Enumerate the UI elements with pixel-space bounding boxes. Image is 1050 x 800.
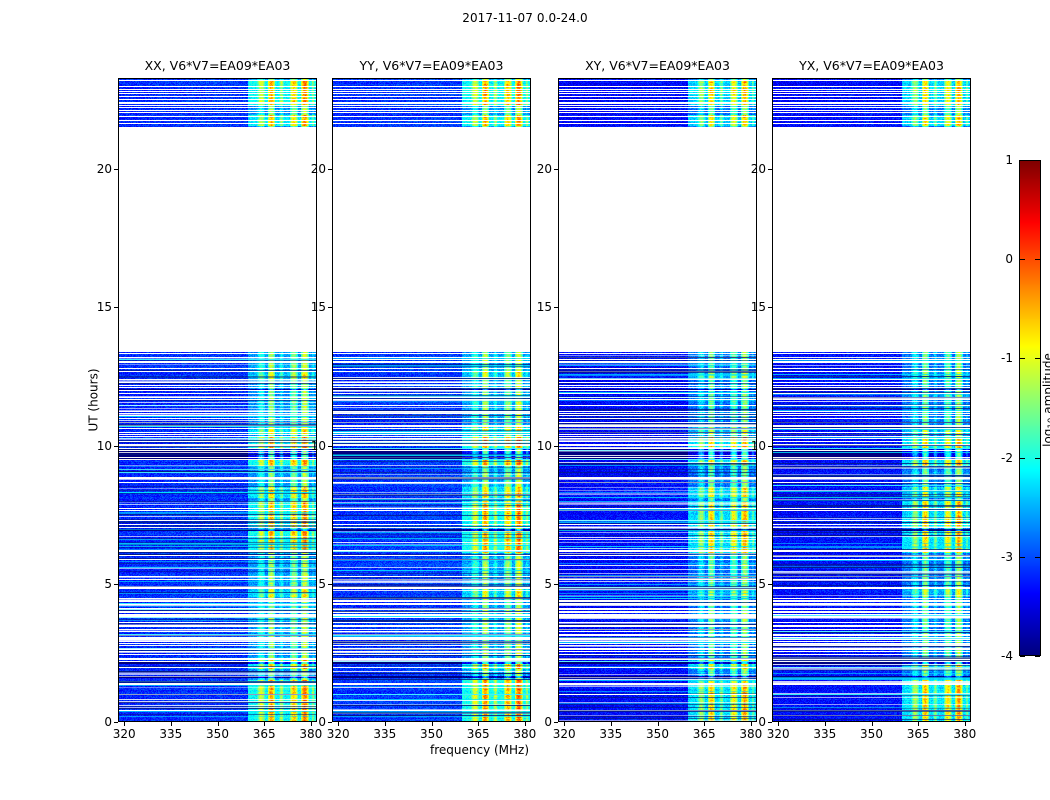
panel-yy[interactable]: YY, V6*V7=EA09*EA03320335350365380051015… [332,78,531,722]
y-tick-label: 10 [751,439,772,453]
y-tick-label: 5 [544,577,558,591]
y-tick-label: 15 [97,300,118,314]
colorbar-tick-label: 0 [1005,252,1019,266]
x-tick-label: 350 [646,722,669,741]
panel-xy[interactable]: XY, V6*V7=EA09*EA03320335350365380051015… [558,78,757,722]
colorbar-tick-label: -4 [1001,649,1019,663]
y-tick-label: 10 [311,439,332,453]
y-tick-label: 15 [311,300,332,314]
y-tick-label: 20 [311,162,332,176]
colorbar-tick-mark [1020,656,1025,657]
axes-frame [332,78,531,722]
waterfall-image-yy [333,79,531,722]
colorbar-label: log10 amplitude [1041,353,1050,447]
x-tick-label: 350 [206,722,229,741]
panel-yx[interactable]: YX, V6*V7=EA09*EA03320335350365380051015… [772,78,971,722]
y-tick-label: 20 [751,162,772,176]
y-tick-label: 15 [537,300,558,314]
x-tick-label: 335 [159,722,182,741]
x-axis-label: frequency (MHz) [430,743,529,757]
figure-canvas: 2017-11-07 0.0-24.0 XX, V6*V7=EA09*EA033… [0,0,1050,800]
x-tick-label: 365 [253,722,276,741]
x-tick-label: 365 [907,722,930,741]
panel-title-xx: XX, V6*V7=EA09*EA03 [118,58,317,78]
colorbar-tick-mark [1035,259,1040,260]
y-axis-label: UT (hours) [87,368,101,431]
colorbar-tick-mark [1020,160,1025,161]
y-tick-label: 0 [318,715,332,729]
colorbar-tick-label: -1 [1001,351,1019,365]
y-tick-label: 0 [544,715,558,729]
waterfall-image-yx [773,79,971,722]
colorbar-tick-mark [1035,160,1040,161]
colorbar-tick-label: -2 [1001,451,1019,465]
colorbar-tick-mark [1020,557,1025,558]
panel-title-xy: XY, V6*V7=EA09*EA03 [558,58,757,78]
waterfall-image-xy [559,79,757,722]
x-tick-label: 350 [860,722,883,741]
axes-frame [118,78,317,722]
y-tick-label: 20 [537,162,558,176]
colorbar[interactable]: 10-1-2-3-4 [1019,160,1041,656]
y-tick-label: 10 [537,439,558,453]
panel-title-yx: YX, V6*V7=EA09*EA03 [772,58,971,78]
colorbar-tick-mark [1035,458,1040,459]
colorbar-tick-mark [1020,458,1025,459]
x-tick-label: 335 [599,722,622,741]
colorbar-tick-mark [1035,358,1040,359]
y-tick-label: 10 [97,439,118,453]
y-tick-label: 0 [758,715,772,729]
y-tick-label: 5 [758,577,772,591]
colorbar-tick-label: 1 [1005,153,1019,167]
y-tick-label: 5 [318,577,332,591]
y-tick-label: 15 [751,300,772,314]
x-tick-label: 365 [467,722,490,741]
colorbar-tick-mark [1035,656,1040,657]
x-tick-label: 350 [420,722,443,741]
panel-title-yy: YY, V6*V7=EA09*EA03 [332,58,531,78]
figure-suptitle: 2017-11-07 0.0-24.0 [0,11,1050,25]
colorbar-tick-mark [1020,358,1025,359]
y-tick-label: 0 [104,715,118,729]
colorbar-tick-mark [1035,557,1040,558]
axes-frame [772,78,971,722]
x-tick-label: 335 [373,722,396,741]
x-tick-label: 335 [813,722,836,741]
y-tick-label: 5 [104,577,118,591]
y-tick-label: 20 [97,162,118,176]
colorbar-tick-label: -3 [1001,550,1019,564]
x-tick-label: 365 [693,722,716,741]
axes-frame [558,78,757,722]
panel-xx[interactable]: XX, V6*V7=EA09*EA03320335350365380051015… [118,78,317,722]
x-tick-label: 380 [513,722,536,741]
colorbar-gradient [1019,160,1041,656]
x-tick-label: 380 [953,722,976,741]
colorbar-tick-mark [1020,259,1025,260]
waterfall-image-xx [119,79,317,722]
